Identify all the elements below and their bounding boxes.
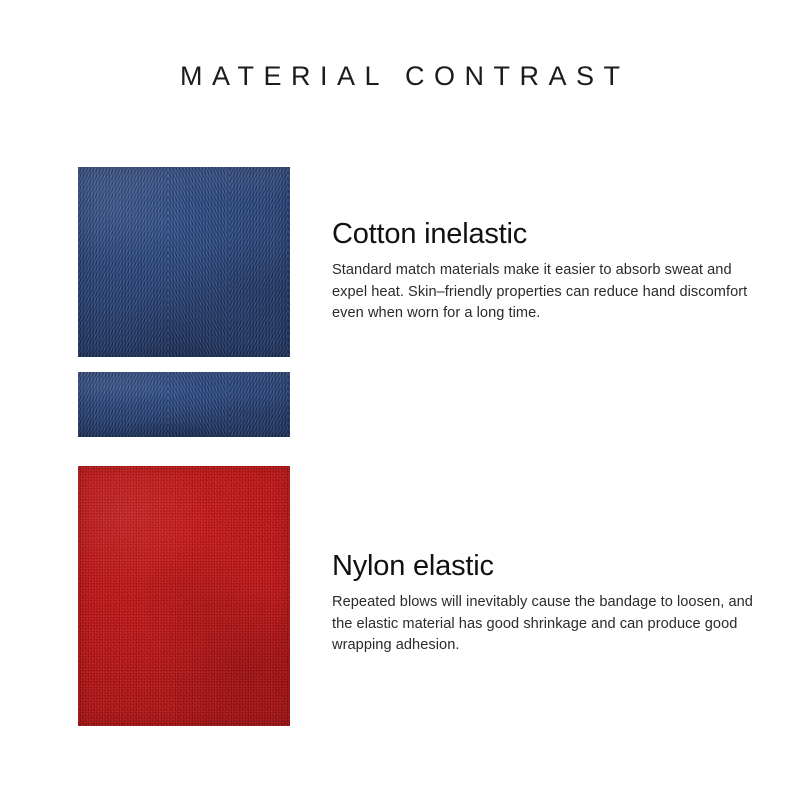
fabric-swatch-red-large — [78, 466, 290, 726]
fabric-swatch-blue-large — [78, 167, 290, 357]
feature-block-cotton: Cotton inelastic Standard match material… — [332, 216, 768, 325]
feature-title-nylon: Nylon elastic — [332, 548, 768, 584]
feature-body-nylon: Repeated blows will inevitably cause the… — [332, 592, 768, 657]
feature-body-cotton: Standard match materials make it easier … — [332, 260, 768, 325]
blue-edge-shadow — [78, 372, 290, 437]
blue-edge-shadow — [78, 167, 290, 357]
red-edge-shadow — [78, 466, 290, 726]
feature-block-nylon: Nylon elastic Repeated blows will inevit… — [332, 548, 768, 657]
page-title: MATERIAL CONTRAST — [0, 59, 800, 93]
feature-title-cotton: Cotton inelastic — [332, 216, 768, 252]
fabric-swatch-blue-strip — [78, 372, 290, 437]
